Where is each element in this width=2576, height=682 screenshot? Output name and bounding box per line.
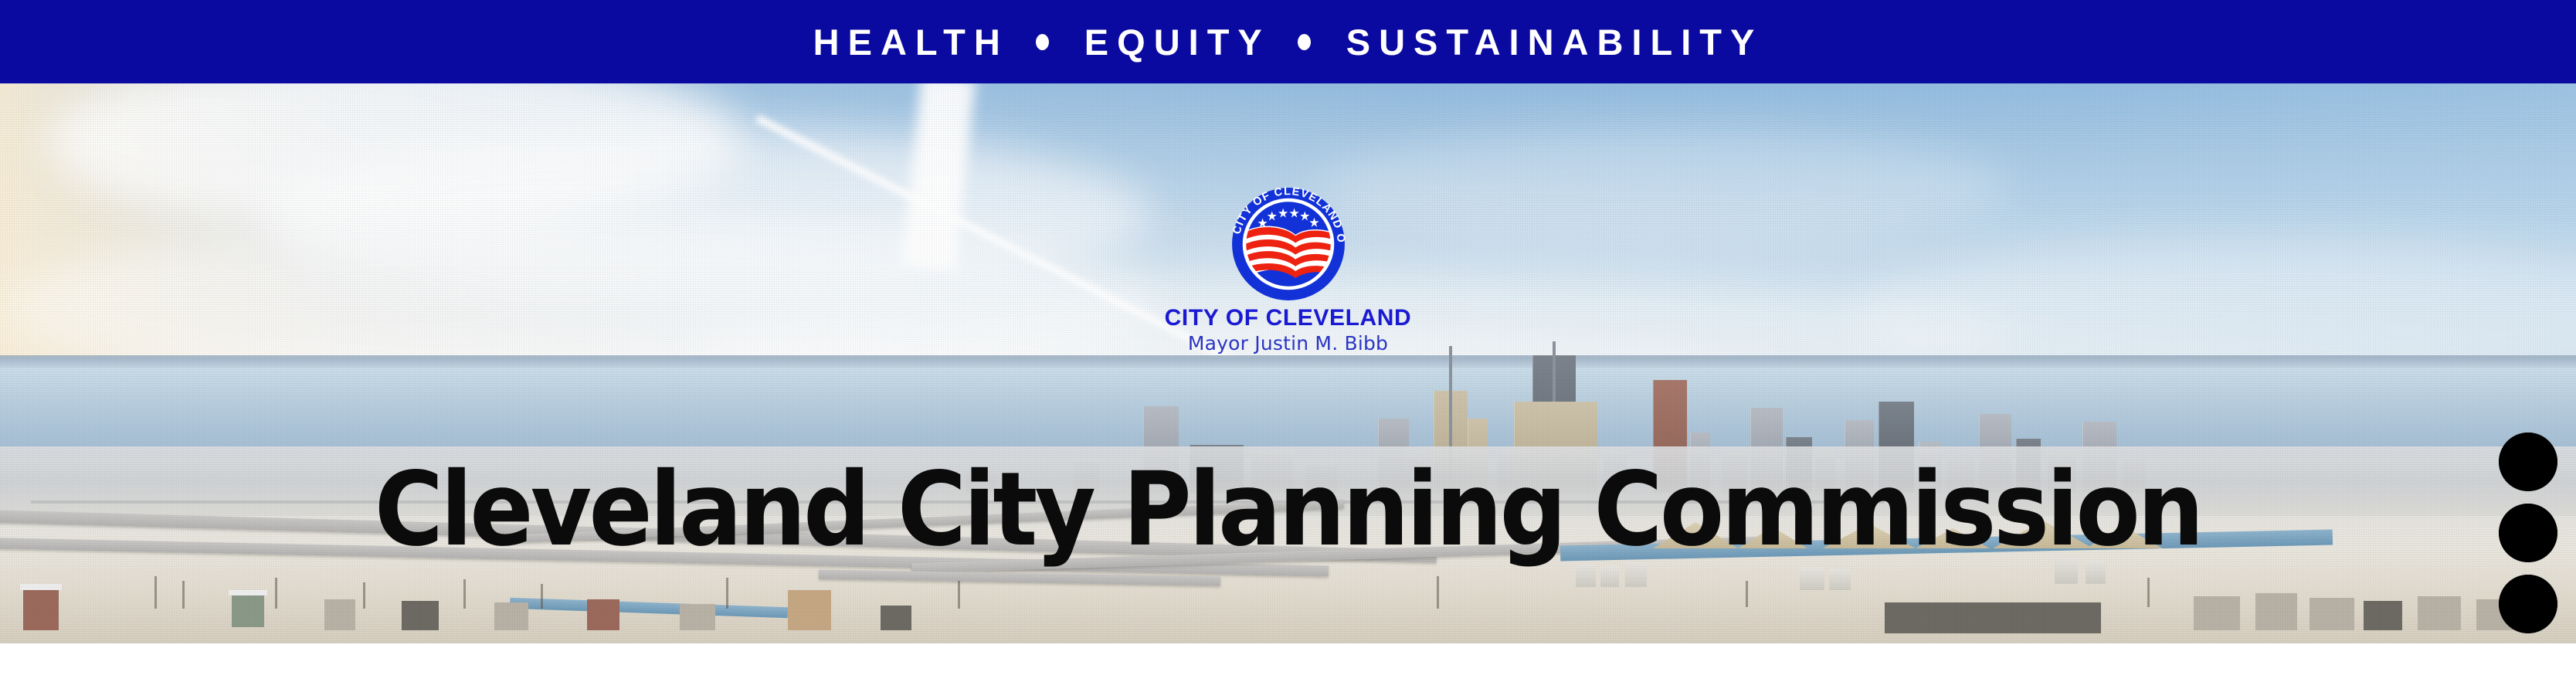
hero-photo: CITY OF CLEVELAND OHIO — [0, 83, 2576, 643]
youtube-link[interactable] — [2499, 433, 2557, 491]
banner-word-sustainability: SUSTAINABILITY — [1346, 24, 1763, 60]
youtube-icon — [2499, 433, 2557, 491]
social-links — [2499, 433, 2557, 633]
facebook-icon — [2499, 575, 2557, 633]
bullet-dot-icon — [1036, 34, 1049, 50]
banner-tagline: HEALTH EQUITY SUSTAINABILITY — [813, 24, 1763, 60]
banner-word-health: HEALTH — [813, 24, 1009, 60]
foreground-neighborhoods — [0, 516, 2576, 643]
top-banner: HEALTH EQUITY SUSTAINABILITY — [0, 0, 2576, 83]
banner-word-equity: EQUITY — [1084, 24, 1271, 60]
city-of-cleveland-seal-icon: CITY OF CLEVELAND OHIO — [1230, 185, 1347, 303]
bullet-dot-icon — [1298, 34, 1311, 50]
bottom-white-strip — [0, 643, 2576, 682]
cuyahoga-river — [510, 598, 788, 619]
logo-mayor-line: Mayor Justin M. Bibb — [1126, 332, 1451, 355]
instagram-link[interactable] — [2499, 504, 2557, 562]
facebook-link[interactable] — [2499, 575, 2557, 633]
city-of-cleveland-logo[interactable]: CITY OF CLEVELAND OHIO — [1126, 185, 1451, 355]
instagram-icon — [2499, 504, 2557, 562]
page-root: HEALTH EQUITY SUSTAINABILITY — [0, 0, 2576, 682]
logo-city-name: CITY OF CLEVELAND — [1126, 306, 1451, 331]
